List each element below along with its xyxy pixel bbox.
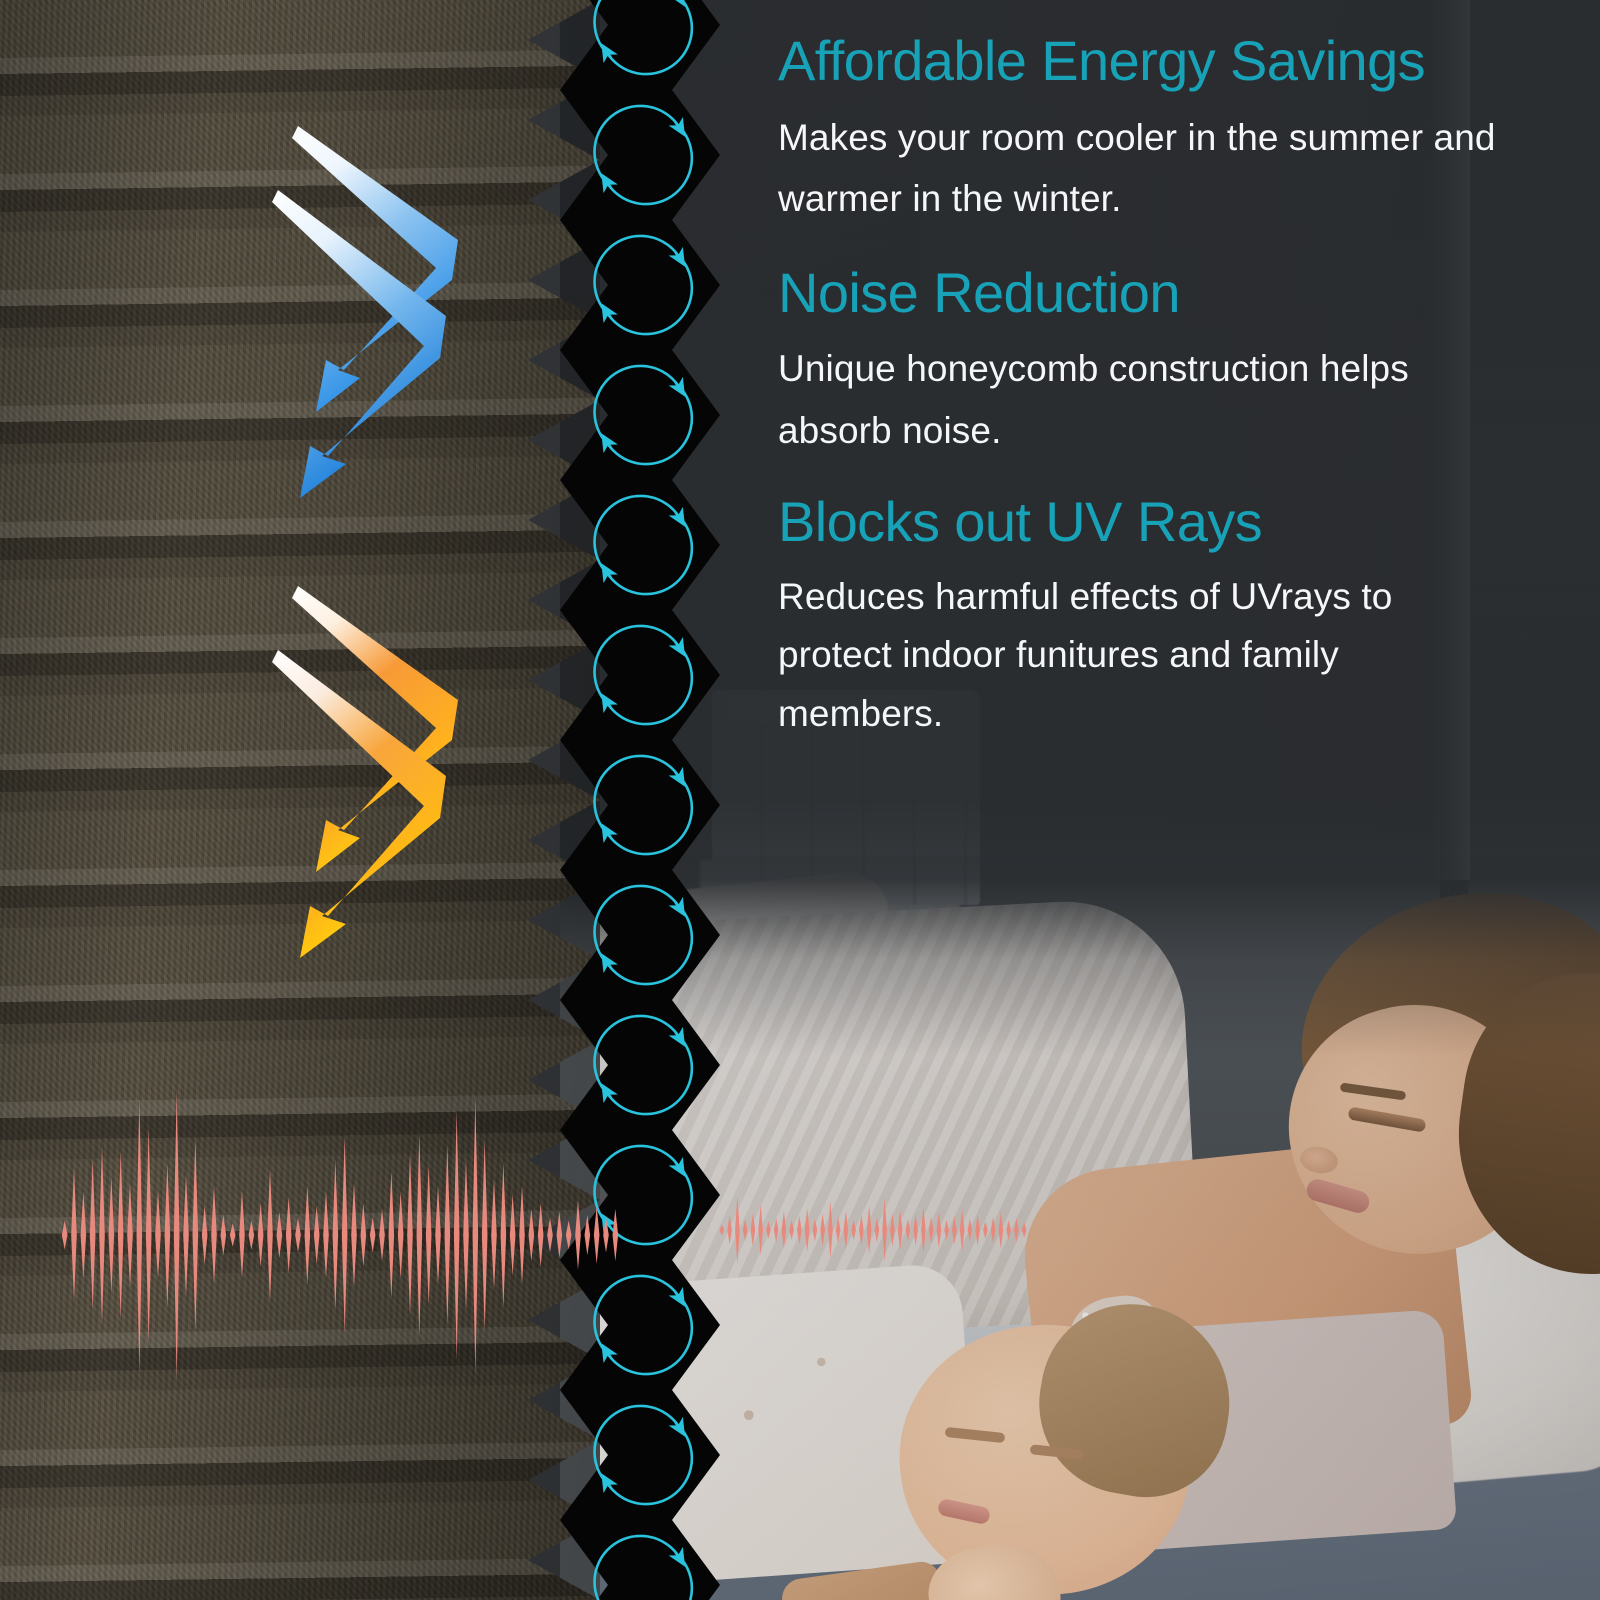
feature-title-noise-reduction: Noise Reduction (778, 262, 1568, 325)
feature-energy-savings: Affordable Energy Savings Makes your roo… (778, 0, 1568, 230)
feature-title-uv-blocking: Blocks out UV Rays (778, 491, 1568, 554)
infographic-canvas: Affordable Energy Savings Makes your roo… (0, 0, 1600, 1600)
feature-title-energy-savings: Affordable Energy Savings (778, 30, 1568, 93)
feature-body-energy-savings: Makes your room cooler in the summer and… (778, 107, 1508, 230)
incoming-sound-wave (60, 1090, 620, 1380)
heat-flow-arrows (268, 580, 498, 980)
feature-body-uv-blocking: Reduces harmful effects of UVrays to pro… (778, 568, 1508, 743)
attenuated-sound-wave (718, 1175, 1028, 1285)
feature-noise-reduction: Noise Reduction Unique honeycomb constru… (778, 230, 1568, 462)
feature-uv-blocking: Blocks out UV Rays Reduces harmful effec… (778, 461, 1568, 743)
cold-air-flow-arrows (268, 120, 498, 520)
feature-text-column: Affordable Energy Savings Makes your roo… (778, 0, 1568, 900)
feature-body-noise-reduction: Unique honeycomb construction helps abso… (778, 338, 1508, 461)
